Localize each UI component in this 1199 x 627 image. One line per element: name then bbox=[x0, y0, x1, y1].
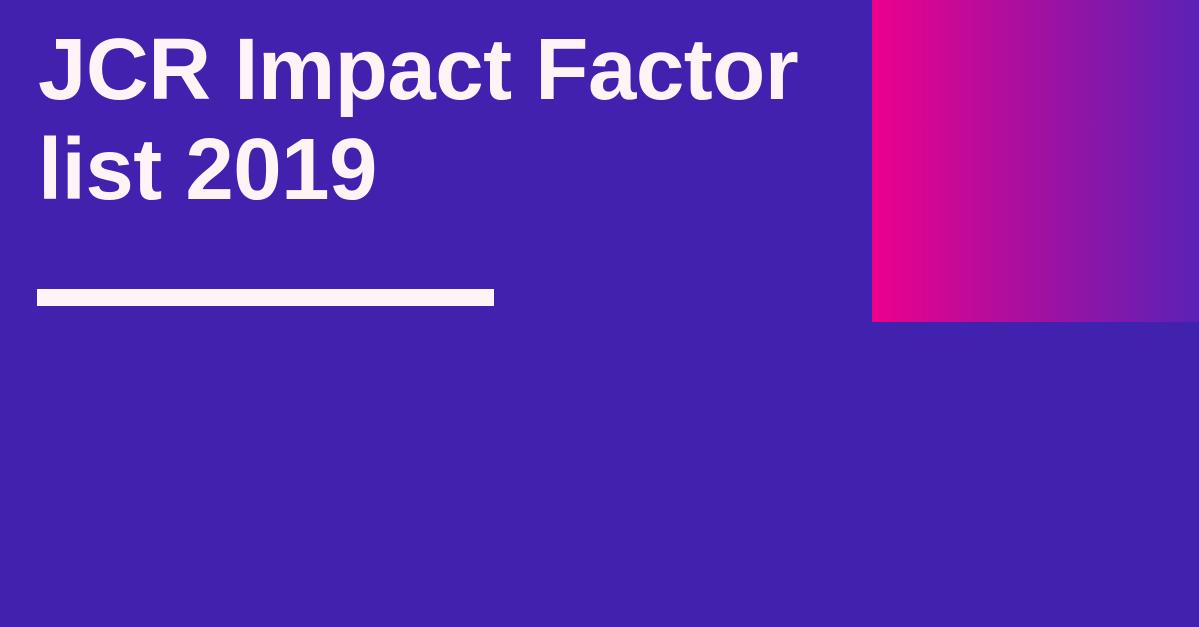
gradient-accent-block bbox=[872, 0, 1199, 322]
page-title: JCR Impact Factor list 2019 bbox=[38, 20, 858, 220]
title-underline-rule bbox=[37, 289, 494, 306]
slide-canvas: JCR Impact Factor list 2019 bbox=[0, 0, 1199, 627]
